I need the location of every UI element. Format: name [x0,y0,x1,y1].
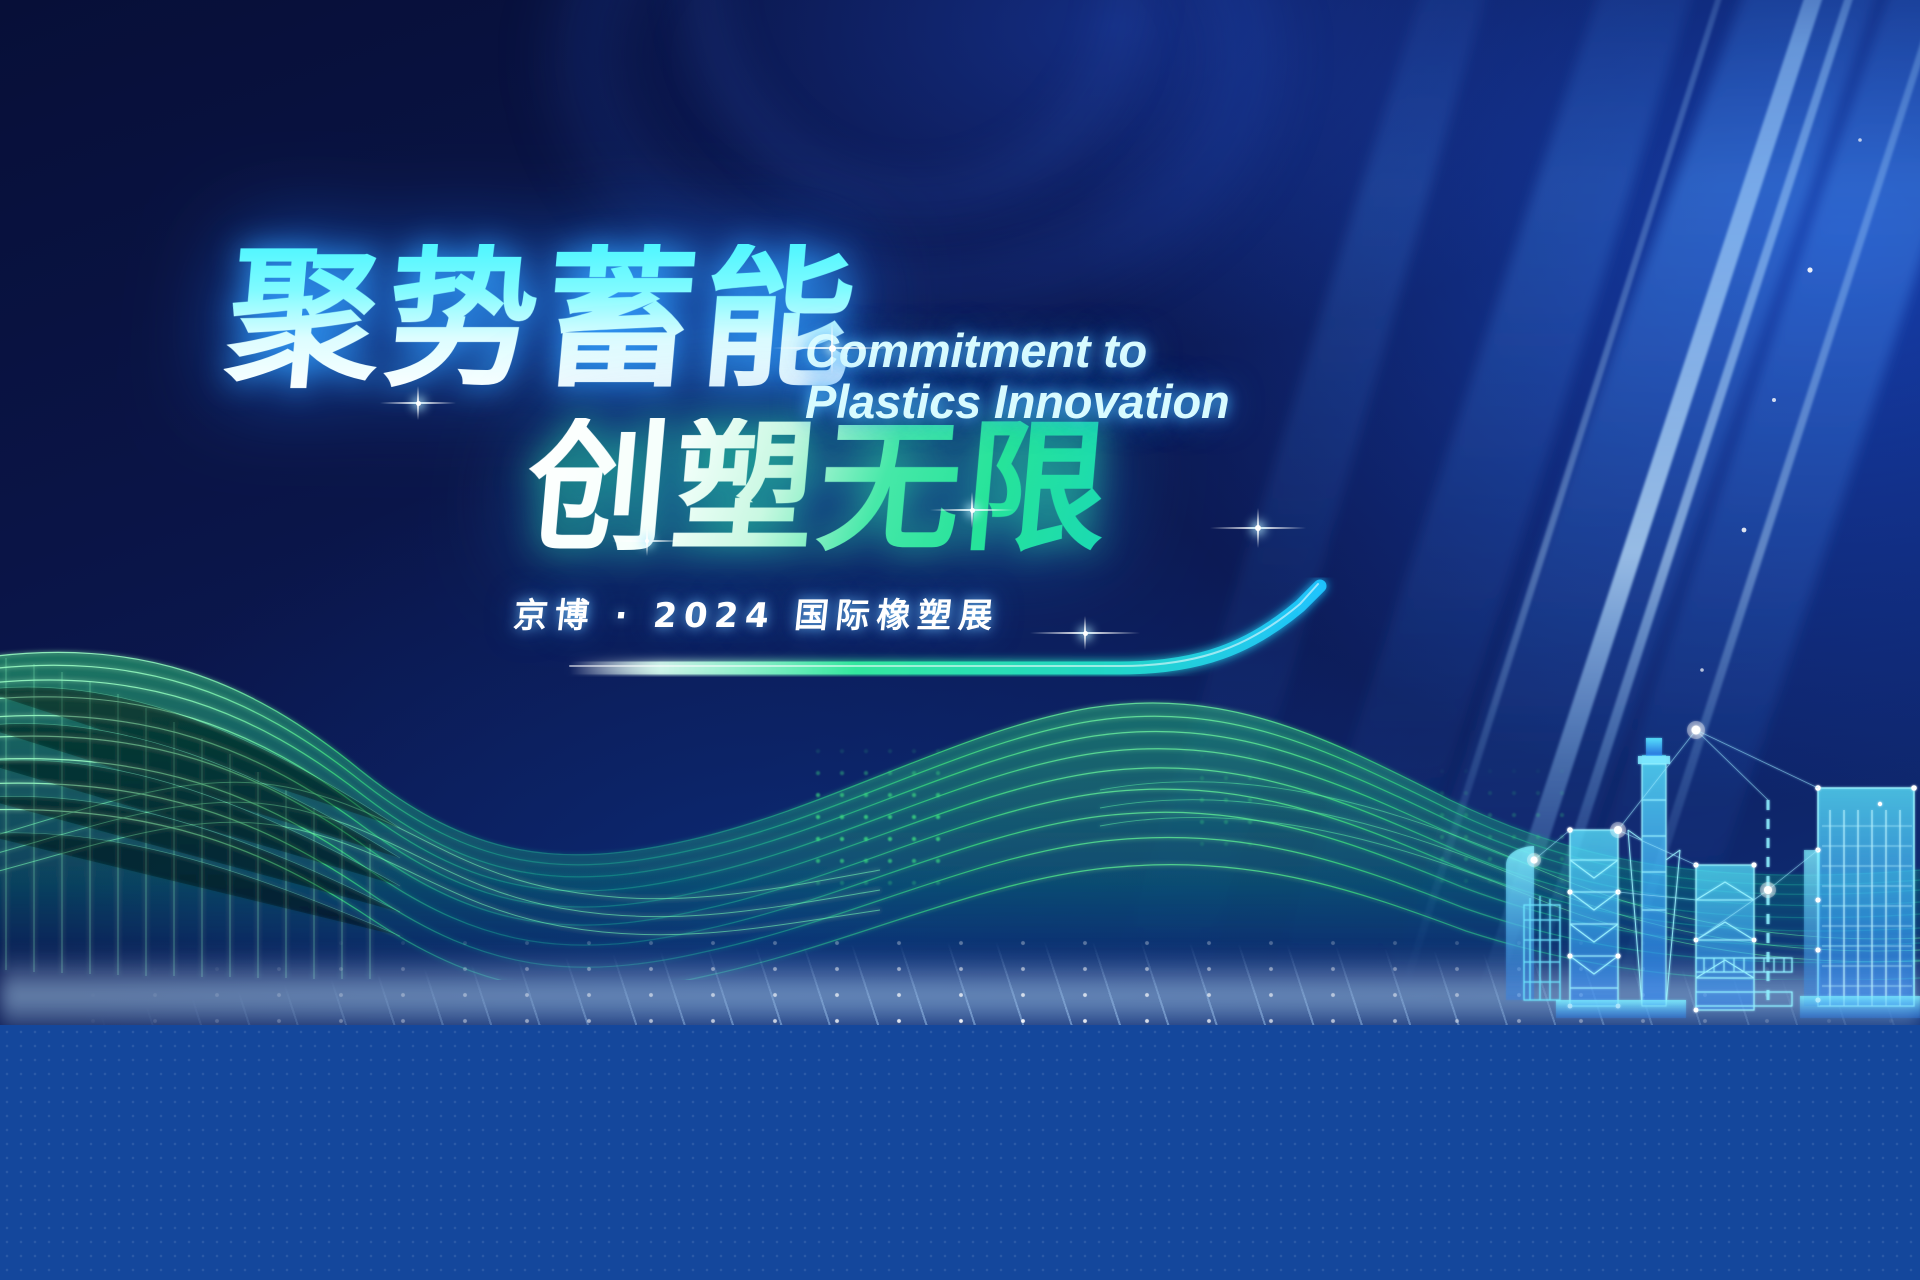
green-dot-matrix [806,740,956,900]
headline-english: Commitment to Plastics Innovation [805,326,1230,428]
headline-english-line-2: Plastics Innovation [805,377,1230,428]
bottom-color-band [0,1025,1920,1280]
green-dot-matrix-small [1190,745,1270,865]
sparkle-icon [380,386,456,420]
sparkle-icon [772,322,892,374]
poster-canvas: 聚势蓄能 创塑无限 Commitment to Plastics Innovat… [0,0,1920,1280]
arc-glow-inner-decoration [690,0,1142,212]
headline-chinese-line-2: 创塑无限 [521,418,1117,560]
sparkle-icon [930,492,1014,528]
headline-chinese-line-1: 聚势蓄能 [221,244,866,396]
industrial-city-skyline [1500,700,1920,1040]
headline-english-line-1: Commitment to [805,326,1230,377]
